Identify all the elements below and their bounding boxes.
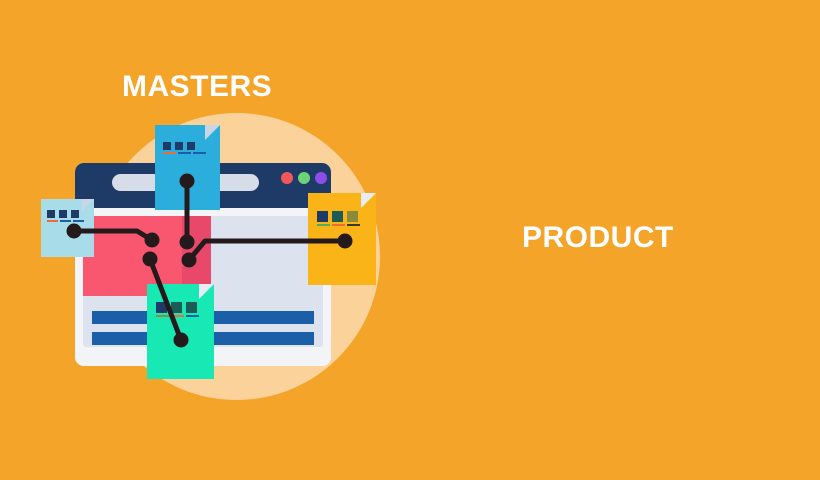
card-icon-group [47, 210, 86, 222]
card-folded-corner-icon [361, 193, 376, 208]
document-card-cyan[interactable] [155, 125, 220, 210]
illustration-canvas: MASTERS PRODUCT [0, 0, 820, 480]
card-folded-corner-icon [199, 284, 214, 299]
document-card-pale-blue[interactable] [41, 199, 94, 257]
masters-heading: MASTERS [122, 72, 272, 102]
window-maximize-dot-icon[interactable] [315, 172, 327, 184]
card-icon-group [317, 211, 362, 226]
card-icon-group [163, 142, 208, 154]
window-close-dot-icon[interactable] [281, 172, 293, 184]
document-card-green[interactable] [147, 284, 214, 379]
product-heading: PRODUCT [522, 223, 674, 253]
document-card-yellow[interactable] [308, 193, 376, 285]
card-icon-group [156, 302, 201, 317]
card-folded-corner-icon [205, 125, 220, 140]
window-minimize-dot-icon[interactable] [298, 172, 310, 184]
